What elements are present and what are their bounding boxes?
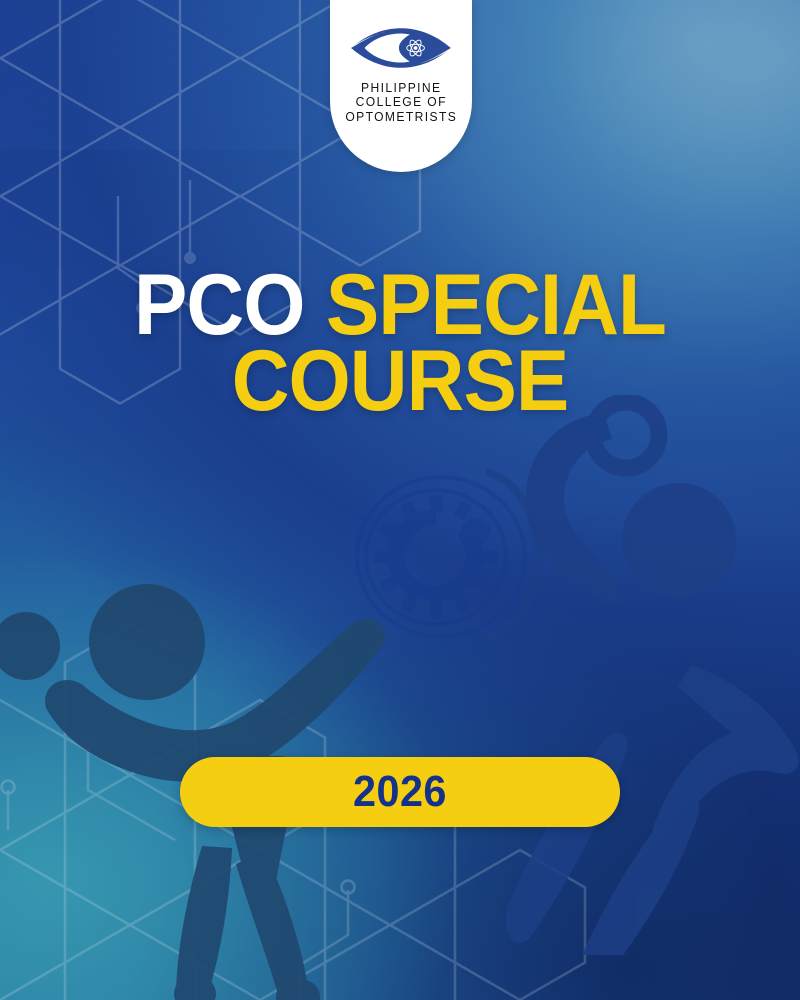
pco-logo-badge: PHILIPPINE COLLEGE OF OPTOMETRISTS	[330, 0, 472, 172]
poster-canvas: PHILIPPINE COLLEGE OF OPTOMETRISTS PCO S…	[0, 0, 800, 1000]
logo-wordmark: PHILIPPINE COLLEGE OF OPTOMETRISTS	[345, 81, 457, 124]
logo-line-2: COLLEGE OF	[345, 95, 457, 109]
phoropter-dial-watermark-icon	[336, 462, 546, 652]
eye-with-atom-icon	[349, 22, 453, 74]
year-badge: 2026	[180, 757, 620, 827]
title-course: COURSE	[28, 344, 772, 420]
page-title: PCO SPECIAL COURSE	[28, 268, 772, 419]
logo-line-1: PHILIPPINE	[345, 81, 457, 95]
year-label: 2026	[353, 767, 447, 817]
logo-line-3: OPTOMETRISTS	[345, 110, 457, 124]
